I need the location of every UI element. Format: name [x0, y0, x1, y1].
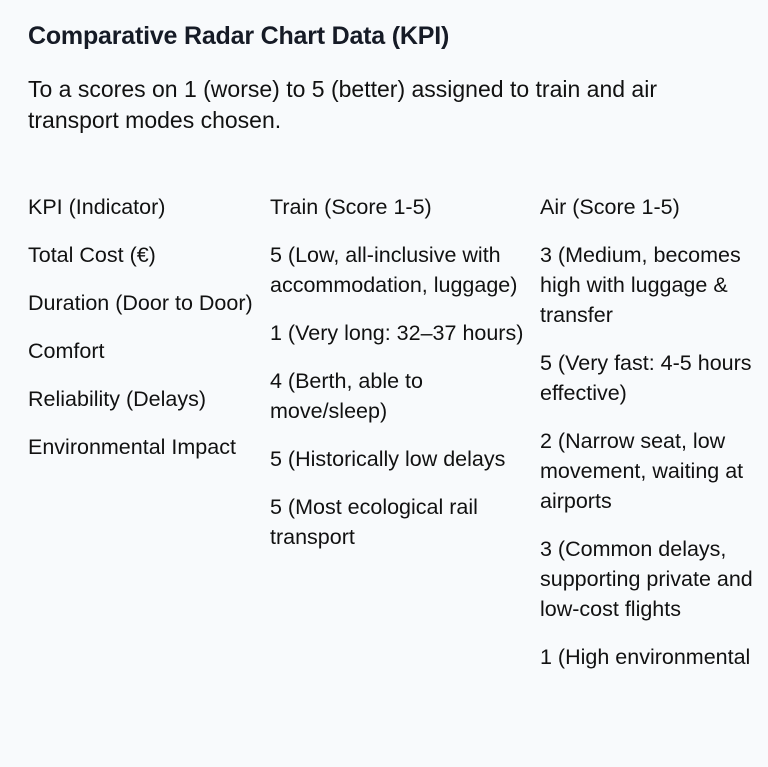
kpi-label-reliability: Reliability (Delays) — [28, 384, 263, 414]
air-value-duration: 5 (Very fast: 4-5 hours effective) — [540, 348, 768, 408]
train-value-comfort: 4 (Berth, able to move/sleep) — [270, 366, 525, 426]
kpi-label-environmental-impact: Environmental Impact — [28, 432, 263, 462]
train-value-total-cost: 5 (Low, all-inclusive with accommodation… — [270, 240, 525, 300]
column-header-train: Train (Score 1-5) — [270, 192, 525, 222]
column-kpi: KPI (Indicator) Total Cost (€) Duration … — [28, 192, 263, 462]
air-value-reliability: 3 (Common delays, supporting private and… — [540, 534, 768, 624]
kpi-label-comfort: Comfort — [28, 336, 263, 366]
air-value-total-cost: 3 (Medium, becomes high with luggage & t… — [540, 240, 768, 330]
kpi-label-duration: Duration (Door to Door) — [28, 288, 263, 318]
column-air: Air (Score 1-5) 3 (Medium, becomes high … — [540, 192, 768, 672]
air-value-comfort: 2 (Narrow seat, low movement, waiting at… — [540, 426, 768, 516]
train-value-reliability: 5 (Historically low delays — [270, 444, 525, 474]
train-value-duration: 1 (Very long: 32–37 hours) — [270, 318, 525, 348]
train-value-environmental-impact: 5 (Most ecological rail transport — [270, 492, 525, 552]
page-title: Comparative Radar Chart Data (KPI) — [28, 20, 738, 52]
document-page: Comparative Radar Chart Data (KPI) To a … — [0, 0, 768, 767]
intro-paragraph: To a scores on 1 (worse) to 5 (better) a… — [28, 74, 728, 136]
column-train: Train (Score 1-5) 5 (Low, all-inclusive … — [270, 192, 525, 552]
column-header-air: Air (Score 1-5) — [540, 192, 768, 222]
column-header-kpi: KPI (Indicator) — [28, 192, 263, 222]
kpi-label-total-cost: Total Cost (€) — [28, 240, 263, 270]
air-value-environmental-impact: 1 (High environmental — [540, 642, 768, 672]
